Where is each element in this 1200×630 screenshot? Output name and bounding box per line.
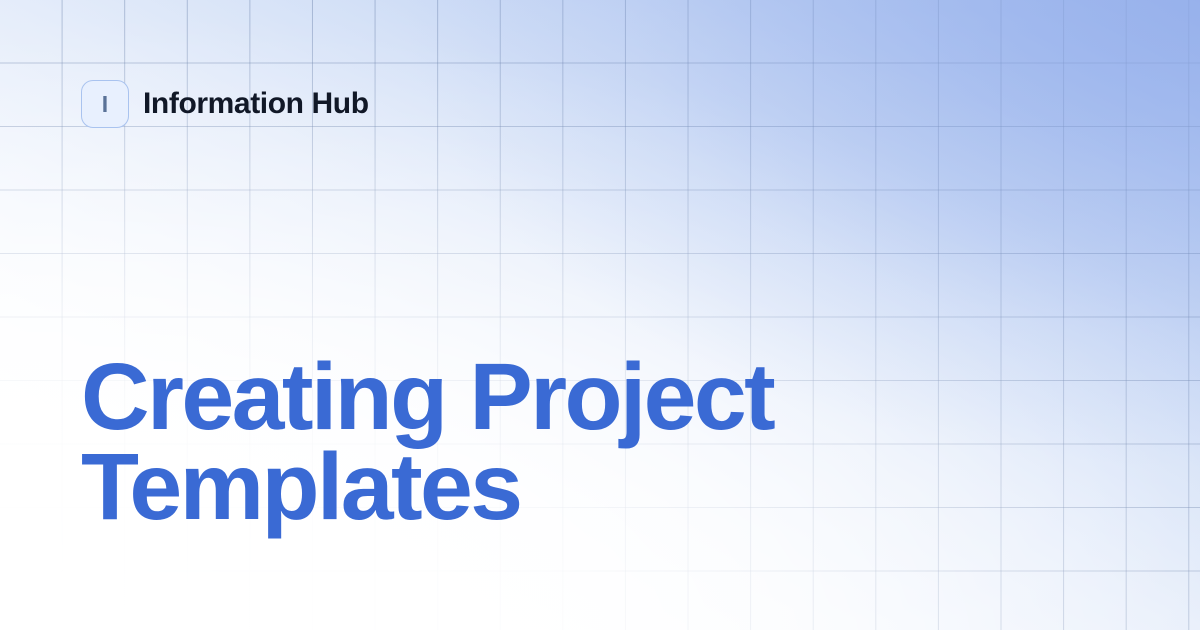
information-badge-glyph: I <box>102 93 108 116</box>
page-title-line-2: Templates <box>81 442 773 532</box>
information-badge-icon: I <box>81 80 129 128</box>
banner-content: I Information Hub Creating Project Templ… <box>0 0 1200 630</box>
hero-banner: I Information Hub Creating Project Templ… <box>0 0 1200 630</box>
page-title: Creating Project Templates <box>81 352 773 532</box>
brand-title: Information Hub <box>143 87 369 121</box>
page-title-line-1: Creating Project <box>81 352 773 442</box>
brand-lockup: I Information Hub <box>81 80 369 128</box>
